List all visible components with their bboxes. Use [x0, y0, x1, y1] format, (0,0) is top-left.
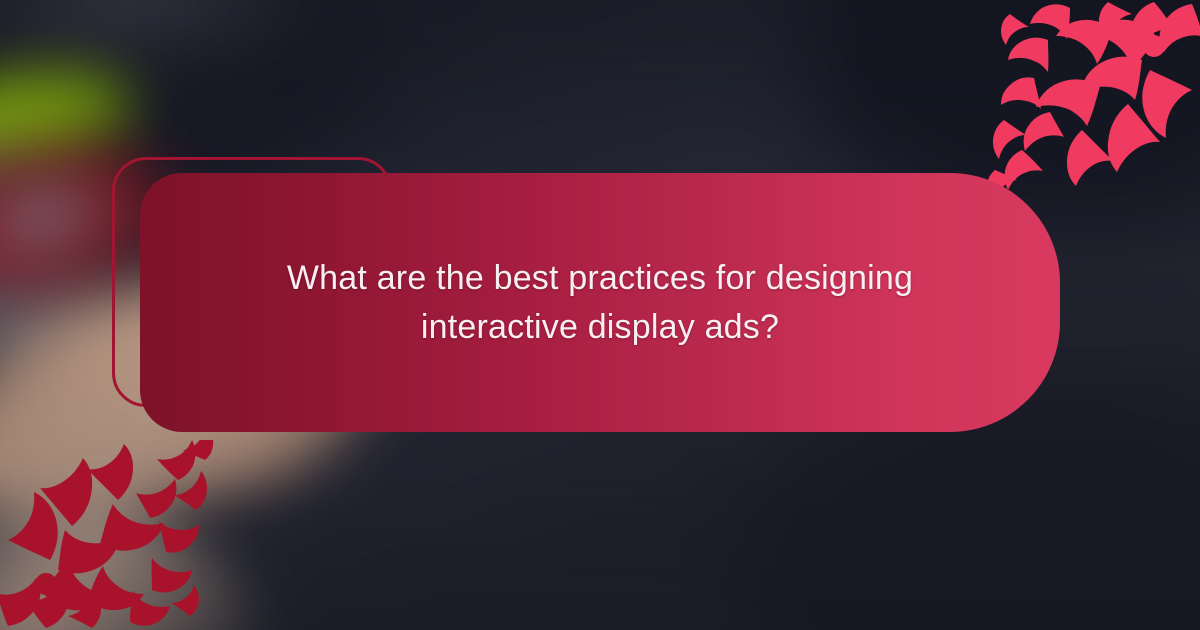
- question-text: What are the best practices for designin…: [220, 254, 980, 351]
- question-card: What are the best practices for designin…: [140, 173, 1060, 432]
- share-card-canvas: What are the best practices for designin…: [0, 0, 1200, 630]
